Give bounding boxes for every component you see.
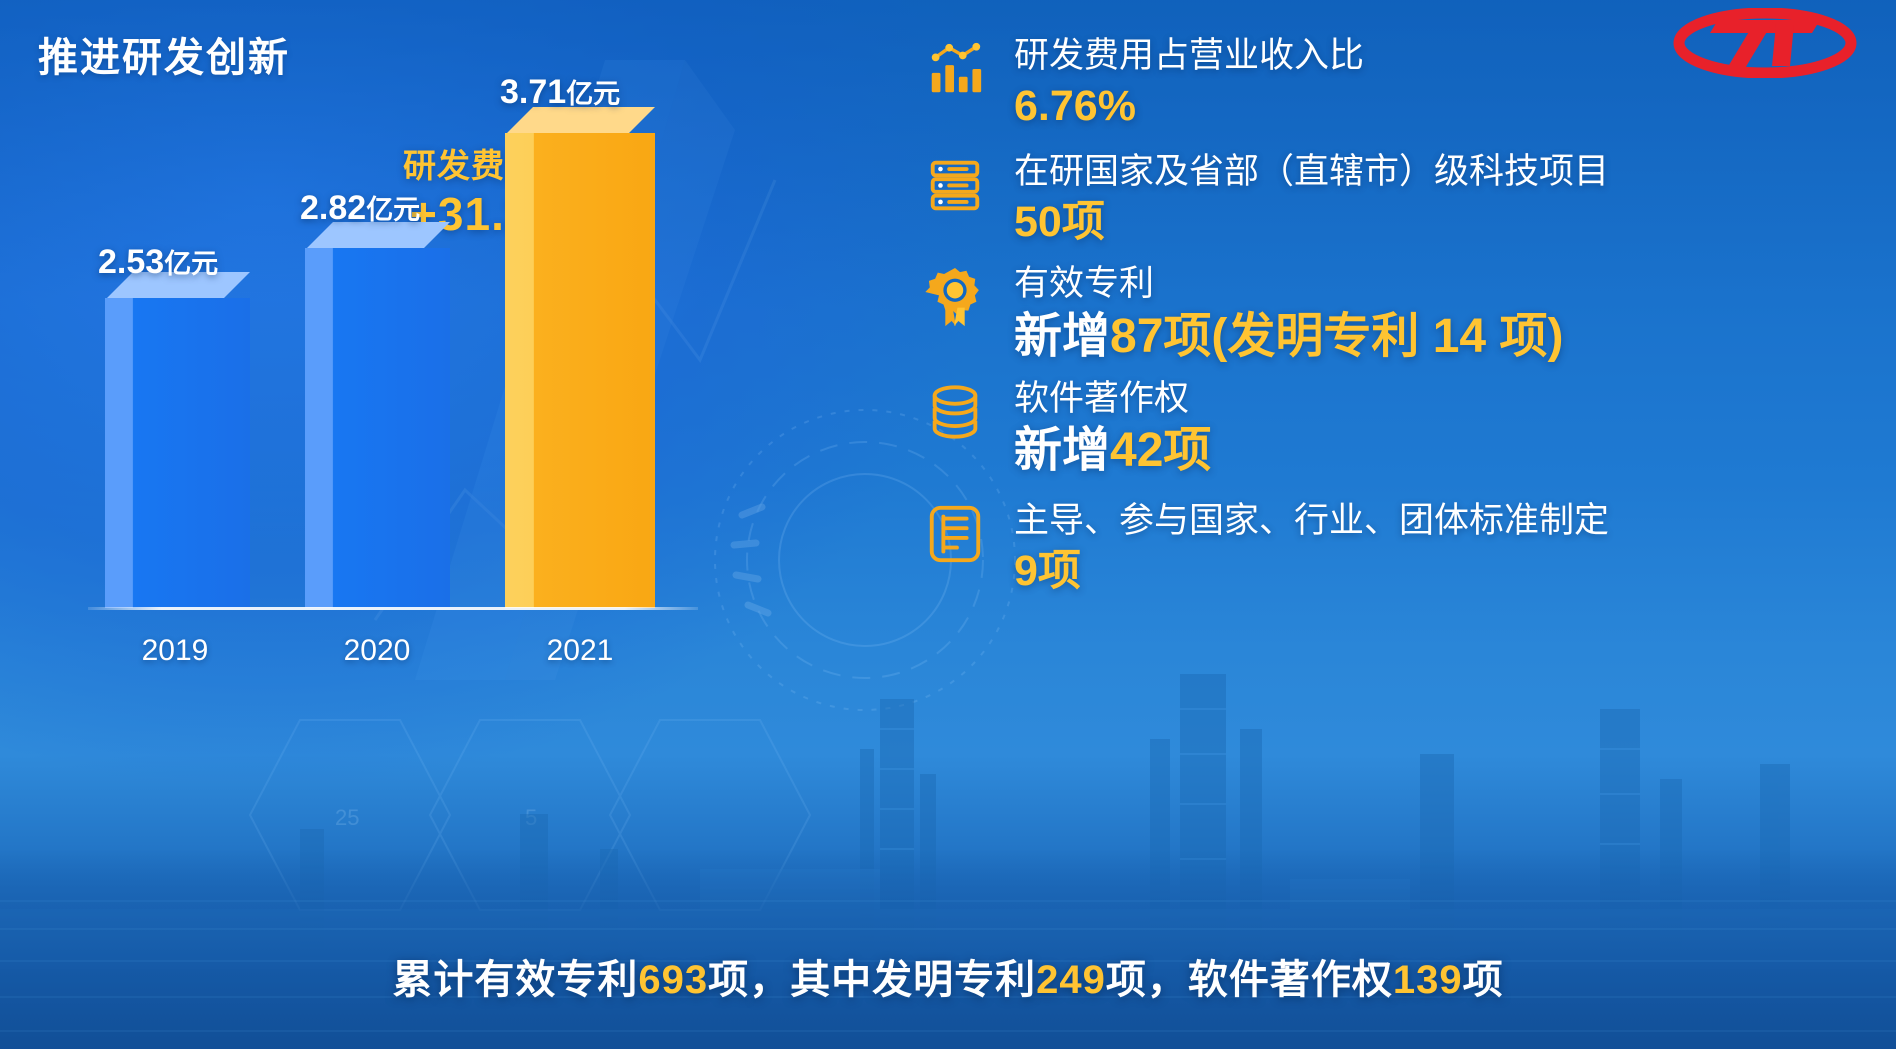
stat-title-projects: 在研国家及省部（直辖市）级科技项目 [1014, 150, 1868, 194]
stat-title-rd-ratio: 研发费用占营业收入比 [1014, 34, 1868, 78]
bar-unit-2020: 亿元 [366, 195, 420, 225]
bar-value-2021: 3.71 [500, 73, 566, 111]
footer-part-1: 累计有效专利 [392, 958, 638, 1002]
page-title: 推进研发创新 [38, 25, 290, 83]
stat-value-software-copyright: 新增42项 [1014, 422, 1868, 481]
stat-item-rd-ratio: 研发费用占营业收入比 6.76% [918, 30, 1868, 132]
stat-value-number-patents: 87项(发明专利 14 项) [1110, 310, 1563, 363]
stat-value-prefix-patents: 新增 [1014, 310, 1110, 363]
award-ribbon-icon [918, 260, 992, 334]
stat-item-projects: 在研国家及省部（直辖市）级科技项目 50项 [918, 146, 1868, 248]
stat-body-patents: 有效专利 新增87项(发明专利 14 项) [1014, 258, 1868, 366]
x-tick-2021: 2021 [495, 634, 665, 668]
stat-body-standards: 主导、参与国家、行业、团体标准制定 9项 [1014, 495, 1868, 597]
stat-value-projects: 50项 [1014, 196, 1868, 248]
svg-text:25: 25 [335, 805, 359, 830]
footer-part-3: 项，软件著作权 [1106, 958, 1393, 1002]
stat-item-software-copyright: 软件著作权 新增42项 [918, 373, 1868, 481]
stat-value-patents: 新增87项(发明专利 14 项) [1014, 308, 1868, 367]
slide-root: 25 5 [0, 0, 1896, 1049]
footer-part-2: 项，其中发明专利 [708, 958, 1036, 1002]
stat-value-standards: 9项 [1014, 545, 1868, 597]
bar-value-label-2019: 2.53亿元 [98, 242, 418, 282]
bar-value-2019: 2.53 [98, 243, 164, 281]
bar-unit-2021: 亿元 [566, 79, 620, 109]
bar-series: 2.53亿元 2.82亿元 3.71亿元 2019 2020 2021 [60, 120, 740, 720]
stat-body-rd-ratio: 研发费用占营业收入比 6.76% [1014, 30, 1868, 132]
stat-title-standards: 主导、参与国家、行业、团体标准制定 [1014, 499, 1868, 543]
rd-expense-bar-chart: 研发费用同比 +31.30% [60, 120, 740, 720]
bar-value-label-2020: 2.82亿元 [300, 188, 620, 228]
stat-body-software-copyright: 软件著作权 新增42项 [1014, 373, 1868, 481]
stat-item-standards: 主导、参与国家、行业、团体标准制定 9项 [918, 495, 1868, 597]
footer-part-4: 项 [1463, 958, 1504, 1002]
x-tick-2019: 2019 [90, 634, 260, 668]
bar-2019 [105, 298, 250, 608]
bar-2020 [305, 248, 450, 608]
stat-title-software-copyright: 软件著作权 [1014, 377, 1868, 421]
stat-value-prefix-software: 新增 [1014, 424, 1110, 477]
bar-unit-2019: 亿元 [164, 249, 218, 279]
stat-value-number-software: 42项 [1110, 424, 1211, 477]
x-tick-2020: 2020 [292, 634, 462, 668]
stat-title-patents: 有效专利 [1014, 262, 1868, 306]
hexagon-watermark: 25 5 [240, 700, 860, 930]
footer-number-patents-total: 693 [638, 958, 708, 1002]
footer-summary: 累计有效专利693项，其中发明专利249项，软件著作权139项 [0, 947, 1896, 1005]
bar-body-2020 [305, 248, 450, 608]
bar-value-2020: 2.82 [300, 189, 366, 227]
stat-item-patents: 有效专利 新增87项(发明专利 14 项) [918, 258, 1868, 366]
chart-axis-line [88, 607, 698, 610]
bar-value-label-2021: 3.71亿元 [500, 72, 820, 112]
document-list-icon [918, 497, 992, 571]
bar-chart-icon [918, 32, 992, 106]
server-stack-icon [918, 148, 992, 222]
stats-list: 研发费用占营业收入比 6.76% [918, 30, 1868, 597]
footer-number-software-copyrights: 139 [1393, 958, 1463, 1002]
svg-text:5: 5 [525, 805, 537, 830]
footer-number-invention-patents: 249 [1036, 958, 1106, 1002]
stat-body-projects: 在研国家及省部（直辖市）级科技项目 50项 [1014, 146, 1868, 248]
bar-body-2019 [105, 298, 250, 608]
stat-value-rd-ratio: 6.76% [1014, 80, 1868, 132]
database-icon [918, 375, 992, 449]
